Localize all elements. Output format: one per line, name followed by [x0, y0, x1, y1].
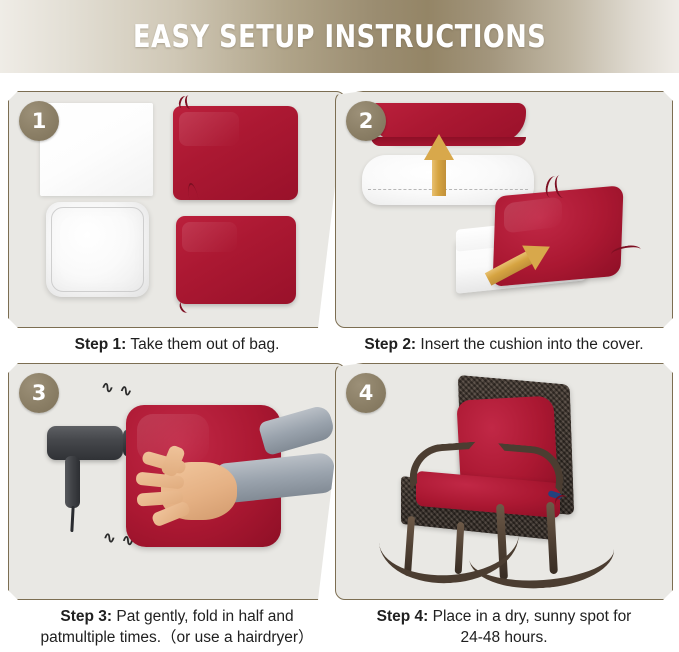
step-4-line-1: Step 4: Place in a dry, sunny spot for	[335, 606, 673, 627]
step-4-label: Step 4:	[377, 608, 429, 625]
step-2-text: Insert the cushion into the cover.	[416, 336, 643, 353]
step-2-caption: Step 2: Insert the cushion into the cove…	[335, 334, 673, 355]
step-1-panel: 1	[8, 91, 346, 328]
step-2-panel: 2	[335, 91, 673, 328]
step-4-illustration	[336, 364, 672, 599]
step-2-cell: 2 Step 2: Insert the cushion into the co…	[335, 91, 673, 353]
step-3-caption: Step 3: Pat gently, fold in half and pat…	[8, 606, 346, 648]
step-4-cell: 4 Step 4: Place in a dry, sunny spot for…	[335, 363, 673, 625]
step-4-text: Place in a dry, sunny spot for	[428, 608, 631, 625]
step-3-line-1: Step 3: Pat gently, fold in half and	[8, 606, 346, 627]
step-3-label: Step 3:	[60, 608, 112, 625]
step-2-badge: 2	[346, 101, 386, 141]
white-pillow-seam-icon	[51, 207, 144, 292]
step-1-illustration	[9, 92, 345, 327]
hairdryer-icon	[47, 426, 137, 536]
heat-squiggle-icon: ∿ ∿	[100, 381, 134, 397]
step-4-badge: 4	[346, 373, 386, 413]
chair-right-rocker-icon	[469, 541, 617, 593]
step-3-badge: 3	[19, 373, 59, 413]
step-4-line-2: 24-48 hours.	[335, 627, 673, 648]
insert-arrow-up-icon	[424, 134, 454, 196]
step-1-label: Step 1:	[75, 336, 127, 353]
instruction-sheet: EASY SETUP INSTRUCTIONS	[0, 0, 679, 652]
step-3-text: Pat gently, fold in half and	[112, 608, 294, 625]
header-banner: EASY SETUP INSTRUCTIONS	[0, 0, 679, 73]
step-4-panel: 4	[335, 363, 673, 600]
step-1-caption: Step 1: Take them out of bag.	[8, 334, 346, 355]
step-1-badge: 1	[19, 101, 59, 141]
red-seat-cover-highlight-icon	[182, 222, 237, 252]
step-1-cell: 1 Step 1: Take them out of bag.	[8, 91, 346, 353]
red-back-cover-highlight-icon	[179, 112, 239, 146]
step-1-text: Take them out of bag.	[126, 336, 279, 353]
step-3-panel: ∿ ∿ ∿ ∿ 3	[8, 363, 346, 600]
step-3-illustration: ∿ ∿ ∿ ∿	[9, 364, 345, 599]
step-3-line-2: patmultiple times.（or use a hairdryer）	[8, 627, 346, 648]
step-2-illustration	[336, 92, 672, 327]
step-3-cell: ∿ ∿ ∿ ∿ 3	[8, 363, 346, 625]
step-2-label: Step 2:	[364, 336, 416, 353]
chair-left-arm-icon	[408, 442, 479, 491]
page-title: EASY SETUP INSTRUCTIONS	[133, 19, 546, 55]
steps-grid: 1 Step 1: Take them out of bag.	[0, 73, 679, 652]
step-4-caption: Step 4: Place in a dry, sunny spot for 2…	[335, 606, 673, 648]
